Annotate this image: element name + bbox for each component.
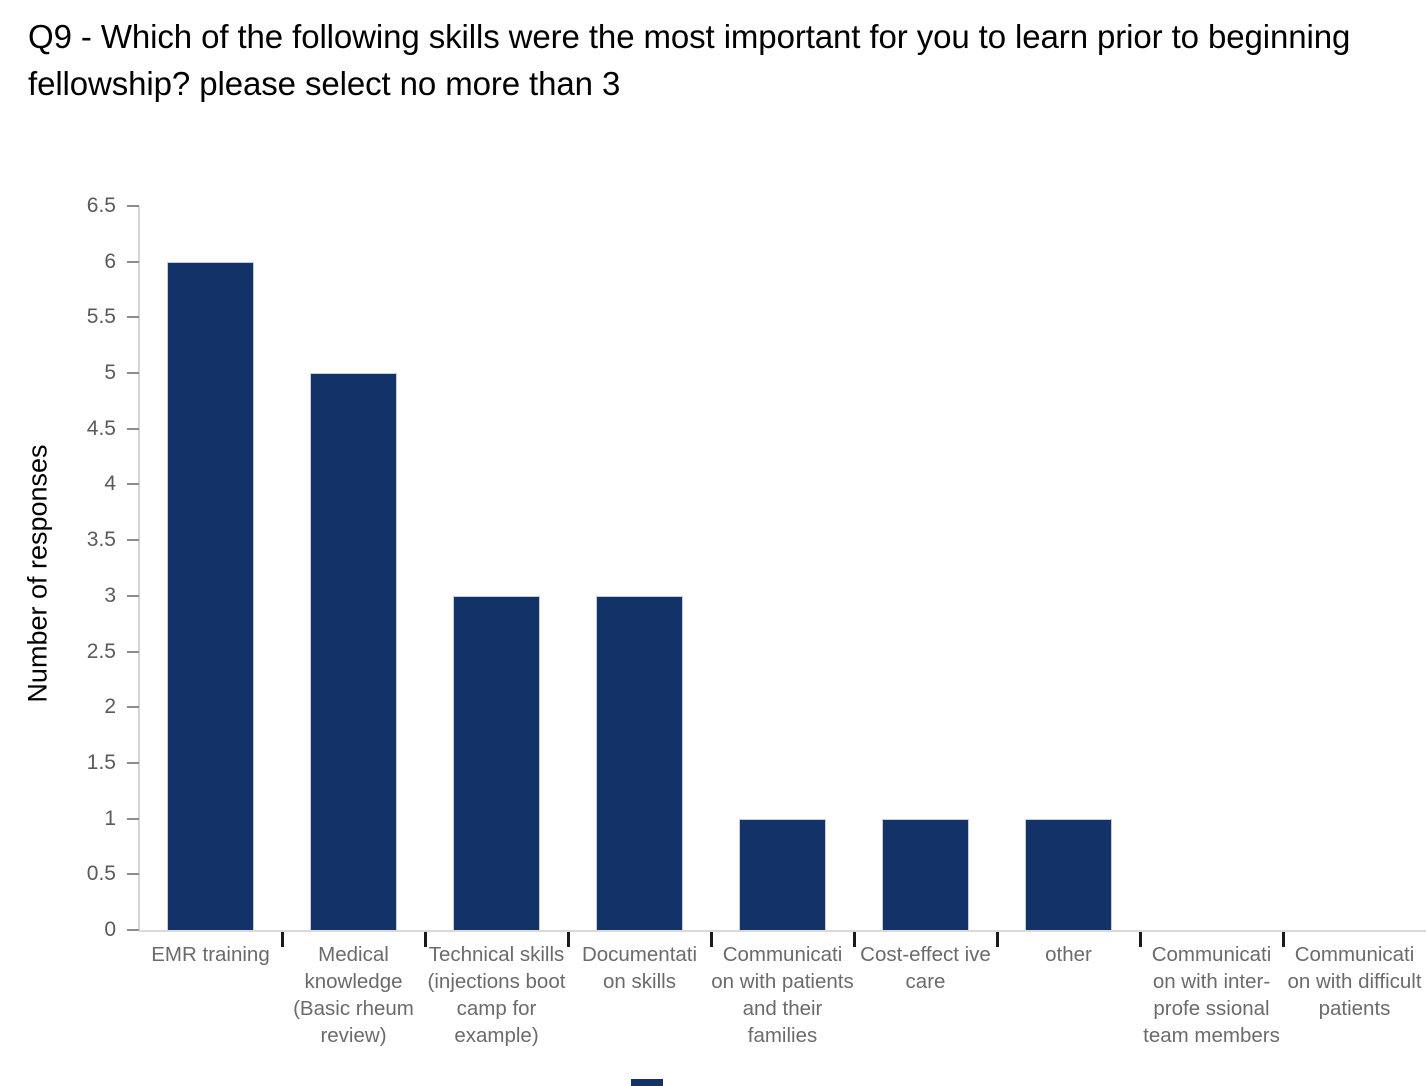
y-axis-tick-label: 0 <box>0 919 116 940</box>
bar <box>882 819 970 930</box>
x-axis-category-label: Cost-effect ive care <box>854 941 997 995</box>
y-axis-tick <box>127 595 139 597</box>
bar <box>739 819 827 930</box>
y-axis-tick <box>127 818 139 820</box>
x-axis-category-label: other <box>997 941 1140 968</box>
bar <box>1025 819 1113 930</box>
x-axis-line <box>139 930 1426 932</box>
x-axis-category-label: Technical skills (injections boot camp f… <box>425 941 568 1049</box>
x-axis-category-label: Documentati on skills <box>568 941 711 995</box>
y-axis-tick-label: 0.5 <box>0 863 116 884</box>
x-axis-category-label: Communicati on with difficult patients <box>1283 941 1426 1022</box>
y-axis-tick-label: 4.5 <box>0 418 116 439</box>
y-axis-tick-label: 1 <box>0 808 116 829</box>
y-axis-tick-label: 2.5 <box>0 641 116 662</box>
y-axis-tick-label: 4 <box>0 473 116 494</box>
y-axis-tick-label: 1.5 <box>0 752 116 773</box>
y-axis-tick <box>127 539 139 541</box>
legend-color-swatch <box>631 1079 663 1086</box>
y-axis-line <box>138 206 140 931</box>
y-axis-tick <box>127 205 139 207</box>
x-axis-category-label: Communicati on with inter-profe ssional … <box>1140 941 1283 1049</box>
bar <box>596 596 684 930</box>
y-axis-tick <box>127 316 139 318</box>
x-axis-category-label: EMR training <box>139 941 282 968</box>
y-axis-tick <box>127 428 139 430</box>
chart-page: Q9 - Which of the following skills were … <box>0 0 1426 1086</box>
y-axis-tick-label: 5 <box>0 362 116 383</box>
y-axis-tick-label: 3 <box>0 585 116 606</box>
bar <box>167 262 255 930</box>
y-axis-tick-label: 6 <box>0 251 116 272</box>
y-axis-tick <box>127 706 139 708</box>
y-axis-tick <box>127 651 139 653</box>
bar <box>310 373 398 930</box>
bar <box>453 596 541 930</box>
y-axis-tick-label: 6.5 <box>0 195 116 216</box>
y-axis-tick <box>127 372 139 374</box>
y-axis-tick <box>127 873 139 875</box>
y-axis-tick-label: 3.5 <box>0 529 116 550</box>
plot-wrapper: 00.511.522.533.544.555.566.5 EMR trainin… <box>0 0 1426 1086</box>
y-axis-tick <box>127 261 139 263</box>
y-axis-tick <box>127 762 139 764</box>
y-axis-tick <box>127 483 139 485</box>
x-axis-category-label: Medical knowledge (Basic rheum review) <box>282 941 425 1049</box>
y-axis-tick-label: 5.5 <box>0 306 116 327</box>
y-axis-tick <box>127 929 139 931</box>
y-axis-tick-label: 2 <box>0 696 116 717</box>
x-axis-category-label: Communicati on with patients and their f… <box>711 941 854 1049</box>
